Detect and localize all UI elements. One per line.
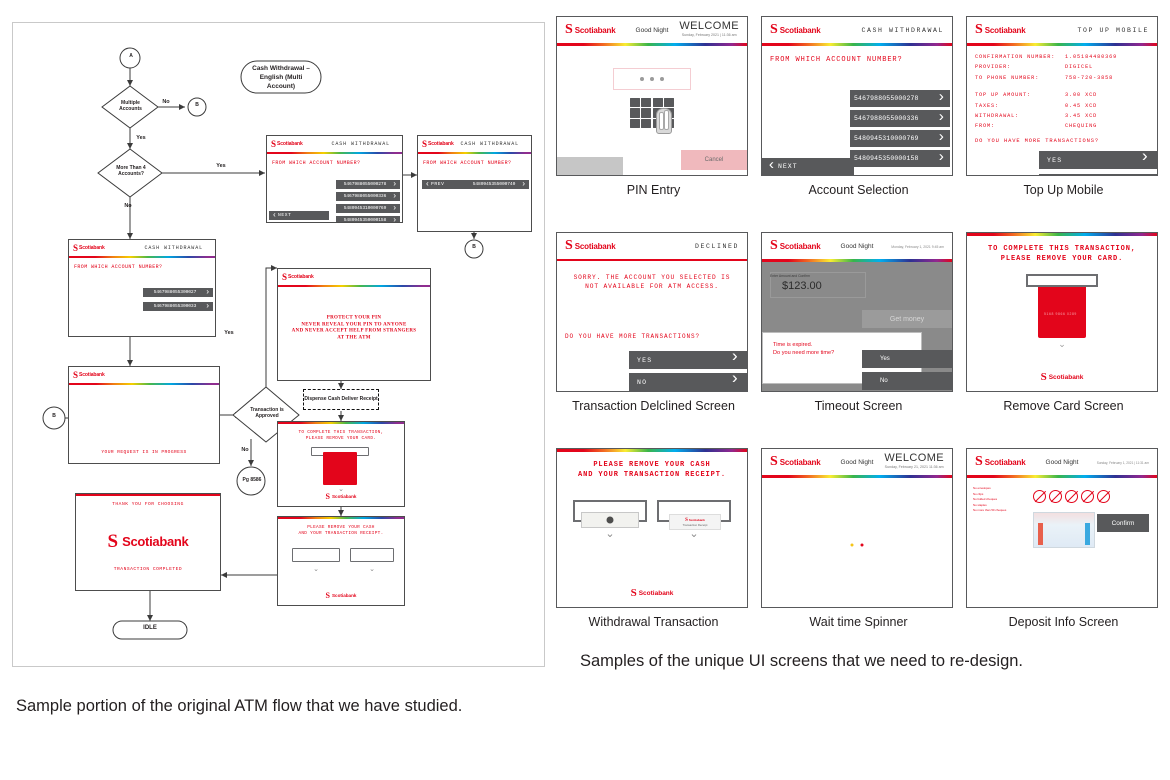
account-option[interactable]: 5467988055000278: [336, 180, 400, 189]
scotiabank-logo-icon: SScotiabank: [770, 23, 820, 37]
scotiabank-logo-icon: SScotiabank: [271, 140, 303, 149]
detail-row: TAXES:0.45 XCD: [975, 101, 1149, 111]
detail-value: 1.05184480369: [1065, 52, 1117, 62]
deposit-slot-illustration: [1033, 512, 1095, 548]
mini-header: SScotiabank CASH WITHDRAWAL: [69, 240, 215, 256]
flow-process-dispense-cash: Dispense Cash Deliver Receipt: [303, 389, 379, 410]
scotiabank-logo-icon: SScotiabank: [422, 140, 454, 149]
detail-row: WITHDRAWAL:3.45 XCD: [975, 111, 1149, 121]
screen-body: PLEASE REMOVE YOUR CASH AND YOUR TRANSAC…: [557, 452, 747, 607]
mini-body: FROM WHICH ACCOUNT NUMBER? 5467988055000…: [267, 154, 402, 222]
screen-title: TOP UP MOBILE: [1077, 27, 1149, 34]
screen-header: SScotiabank CASH WITHDRAWAL: [762, 17, 952, 43]
more-transactions-question: DO YOU HAVE MORE TRANSACTIONS?: [565, 333, 700, 340]
topup-details: CONFIRMATION NUMBER:1.05184480369 PROVID…: [975, 52, 1149, 132]
no-staple-icon: [1081, 490, 1094, 503]
mini-header: SScotiabank CASH WITHDRAWAL: [418, 136, 531, 152]
flow-page-reference: Pg 8586: [237, 478, 267, 484]
atm-flow-diagram-panel: A B B B Cash Withdrawal – English (Multi…: [12, 22, 545, 667]
account-option[interactable]: 5480945350000158: [336, 216, 400, 223]
detail-label: TAXES:: [975, 101, 1065, 111]
account-option[interactable]: 5480945310000769: [336, 204, 400, 213]
screen-timeout: SScotiabank Good Night Monday, February …: [761, 232, 953, 392]
screen-account-selection: SScotiabank CASH WITHDRAWAL FROM WHICH A…: [761, 16, 953, 176]
screen-transaction-declined: SScotiabank DECLINED SORRY. THE ACCOUNT …: [556, 232, 748, 392]
sample-withdrawal-transaction: PLEASE REMOVE YOUR CASH AND YOUR TRANSAC…: [556, 448, 751, 629]
screen-body: Cancel: [557, 46, 747, 175]
greeting-text: Good Night: [636, 27, 669, 34]
cash-icon: [581, 512, 639, 528]
mini-header: SScotiabank: [69, 367, 219, 383]
sample-caption: PIN Entry: [556, 183, 751, 197]
edge-label-yes-1: Yes: [133, 135, 149, 141]
mini-screen-title: CASH WITHDRAWAL: [331, 141, 390, 147]
sample-top-up-mobile: SScotiabank TOP UP MOBILE CONFIRMATION N…: [966, 16, 1161, 197]
greeting-text: Good Night: [1046, 459, 1079, 466]
get-money-button[interactable]: Get money: [862, 310, 952, 328]
declined-message: SORRY. THE ACCOUNT YOU SELECTED IS NOT A…: [557, 273, 747, 292]
more-transactions-question: DO YOU HAVE MORE TRANSACTIONS?: [975, 138, 1099, 144]
detail-row: TOP UP AMOUNT:3.00 XCD: [975, 90, 1149, 100]
scotiabank-logo-icon: SScotiabank: [73, 244, 105, 253]
decision-transaction-approved: Transaction is Approved: [243, 408, 291, 419]
flow-screen-thank-you: THANK YOU FOR CHOOSING S Scotiabank TRAN…: [75, 493, 221, 591]
welcome-date: Sunday, February 2021 | 11:36 am: [679, 33, 739, 37]
flow-terminator-idle: IDLE: [113, 625, 187, 632]
yes-button[interactable]: YES: [629, 351, 747, 369]
flow-title: Cash Withdrawal – English (Multi Account…: [241, 65, 321, 91]
no-clip-icon: [1049, 490, 1062, 503]
sample-transaction-declined: SScotiabank DECLINED SORRY. THE ACCOUNT …: [556, 232, 751, 413]
edge-label-yes-3: Yes: [221, 330, 237, 336]
flow-connector-b-top: B: [191, 103, 203, 109]
card-slot-icon: [1026, 274, 1098, 287]
pin-dots-display: [613, 68, 691, 90]
account-option[interactable]: 5467988055000278: [850, 90, 950, 107]
scotiabank-logo-icon: SScotiabank: [975, 455, 1025, 469]
detail-value: DIGICEL: [1065, 62, 1093, 72]
restriction-item: No more than 50 cheques: [973, 508, 1006, 514]
detail-label: FROM:: [975, 121, 1065, 131]
scotiabank-logo-icon: SScotiabank: [770, 455, 820, 469]
protect-pin-message: PROTECT YOUR PIN NEVER REVEAL YOUR PIN T…: [278, 315, 430, 342]
mini-body: YOUR REQUEST IS IN PROGRESS: [69, 385, 219, 463]
no-button[interactable]: NO: [629, 373, 747, 391]
flow-screen-in-progress: SScotiabank YOUR REQUEST IS IN PROGRESS: [68, 366, 220, 464]
detail-value: 3.00 XCD: [1065, 90, 1097, 100]
next-button[interactable]: NEXT: [762, 158, 854, 175]
amount-value: $123.00: [782, 280, 822, 292]
thank-you-bottom: TRANSACTION COMPLETED: [76, 567, 220, 572]
remove-cash-message: PLEASE REMOVE YOUR CASH AND YOUR TRANSAC…: [278, 525, 404, 537]
scotiabank-logo-icon: SScotiabank: [975, 23, 1025, 37]
yes-button[interactable]: YES: [1039, 151, 1157, 169]
screen-title: CASH WITHDRAWAL: [861, 27, 944, 34]
no-button[interactable]: NO: [1039, 174, 1157, 176]
deposit-restrictions-list: No envelopes No clips No folded cheques …: [973, 486, 1006, 514]
scotiabank-logo-icon: S Scotiabank: [76, 532, 220, 551]
sample-wait-spinner: SScotiabank Good Night WELCOME Sunday, F…: [761, 448, 956, 629]
detail-value: 758-720-3858: [1065, 73, 1113, 83]
mini-header: SScotiabank CASH WITHDRAWAL: [267, 136, 402, 152]
mini-question: FROM WHICH ACCOUNT NUMBER?: [74, 264, 162, 270]
account-option[interactable]: 5480945310000769: [850, 130, 950, 147]
mini-screen-title: CASH WITHDRAWAL: [460, 141, 519, 147]
caption-right-panel: Samples of the unique UI screens that we…: [580, 652, 1023, 671]
edge-label-yes-2: Yes: [213, 163, 229, 169]
greeting-text: Good Night: [841, 459, 874, 466]
no-button[interactable]: No: [862, 372, 952, 390]
sample-account-selection: SScotiabank CASH WITHDRAWAL FROM WHICH A…: [761, 16, 956, 197]
screen-wait-spinner: SScotiabank Good Night WELCOME Sunday, F…: [761, 448, 953, 608]
chevron-down-icon: ⌄: [657, 532, 731, 537]
flow-screen-prev-page: SScotiabank CASH WITHDRAWAL FROM WHICH A…: [417, 135, 532, 232]
welcome-date: Sunday, February 21, 2021 11:36 am: [884, 465, 944, 469]
yes-button[interactable]: Yes: [862, 350, 952, 368]
account-option[interactable]: 5467988055000336: [850, 110, 950, 127]
samples-row-1: SScotiabank Good Night WELCOME Sunday, F…: [556, 16, 1164, 216]
samples-row-2: SScotiabank DECLINED SORRY. THE ACCOUNT …: [556, 232, 1164, 432]
mini-body: PROTECT YOUR PIN NEVER REVEAL YOUR PIN T…: [278, 287, 430, 380]
screen-body: CONFIRMATION NUMBER:1.05184480369 PROVID…: [967, 46, 1157, 175]
scotiabank-logo-icon: SScotiabank: [278, 591, 404, 600]
cancel-button[interactable]: Cancel: [681, 150, 747, 170]
receipt-slot-icon: SScotiabank Transaction Receipt: [657, 500, 731, 522]
thank-you-top: THANK YOU FOR CHOOSING: [76, 502, 220, 507]
flow-screen-remove-cash: PLEASE REMOVE YOUR CASH AND YOUR TRANSAC…: [277, 516, 405, 606]
account-option[interactable]: 5480945350000158: [850, 150, 950, 167]
sample-caption: Account Selection: [761, 183, 956, 197]
screen-header: SScotiabank Good Night WELCOME Sunday, F…: [762, 449, 952, 475]
screen-header: SScotiabank Good Night Monday, February …: [762, 233, 952, 259]
header-date: Sunday, February 1, 2021 | 11:31 am: [1097, 461, 1149, 465]
screen-header: SScotiabank Good Night WELCOME Sunday, F…: [557, 17, 747, 43]
mini-body: FROM WHICH ACCOUNT NUMBER? PREV 54809453…: [418, 154, 531, 231]
detail-label: TOP UP AMOUNT:: [975, 90, 1065, 100]
account-option[interactable]: 5467988055300033: [143, 302, 213, 311]
mini-body: FROM WHICH ACCOUNT NUMBER? 5467988055300…: [69, 258, 215, 336]
sample-caption: Remove Card Screen: [966, 399, 1161, 413]
cash-slot-icon: [292, 548, 340, 562]
scotiabank-logo-icon: SScotiabank: [278, 492, 404, 501]
scotiabank-logo-icon: SScotiabank: [282, 273, 314, 282]
mini-body: TO COMPLETE THIS TRANSACTION, PLEASE REM…: [278, 424, 404, 506]
loading-spinner-icon: [851, 544, 864, 547]
prohibition-icons: [1033, 490, 1110, 503]
flow-connector-b-right: B: [468, 245, 480, 251]
screen-remove-card: TO COMPLETE THIS TRANSACTION, PLEASE REM…: [966, 232, 1158, 392]
header-date: Monday, February 1, 2021 9:45 am: [891, 245, 944, 249]
mini-header: SScotiabank: [278, 269, 430, 285]
decision-more-than-4: More Than 4 Accounts?: [105, 166, 157, 177]
sample-timeout: SScotiabank Good Night Monday, February …: [761, 232, 956, 413]
sample-caption: Deposit Info Screen: [966, 615, 1161, 629]
mini-body: THANK YOU FOR CHOOSING S Scotiabank TRAN…: [76, 496, 220, 590]
edge-label-no-2: No: [120, 203, 136, 209]
edge-label-no-3: No: [237, 447, 253, 453]
screen-body: Enter Amount and Confirm $123.00 Get mon…: [762, 262, 952, 391]
screen-top-up-mobile: SScotiabank TOP UP MOBILE CONFIRMATION N…: [966, 16, 1158, 176]
in-progress-message: YOUR REQUEST IS IN PROGRESS: [69, 450, 219, 455]
bottom-grey-bar: [557, 157, 623, 175]
sample-deposit-info: SScotiabank Good Night Sunday, February …: [966, 448, 1161, 629]
screen-title: DECLINED: [695, 243, 739, 250]
chevron-down-icon: ⌄: [967, 342, 1157, 346]
screen-pin-entry: SScotiabank Good Night WELCOME Sunday, F…: [556, 16, 748, 176]
flow-screen-two-accounts: SScotiabank CASH WITHDRAWAL FROM WHICH A…: [68, 239, 216, 337]
no-envelope-icon: [1033, 490, 1046, 503]
welcome-title: WELCOME: [884, 452, 944, 464]
hand-pointer-icon: [656, 108, 672, 134]
samples-row-3: PLEASE REMOVE YOUR CASH AND YOUR TRANSAC…: [556, 448, 1164, 648]
detail-label: CONFIRMATION NUMBER:: [975, 52, 1065, 62]
detail-row: TO PHONE NUMBER:758-720-3858: [975, 73, 1149, 83]
decision-multiple-accounts: Multiple Accounts: [108, 101, 153, 112]
sample-caption: Transaction Delclined Screen: [556, 399, 751, 413]
scotiabank-logo-icon: SScotiabank: [565, 239, 615, 253]
screen-body: FROM WHICH ACCOUNT NUMBER? 5467988055000…: [762, 46, 952, 175]
no-more-than-50-icon: [1097, 490, 1110, 503]
card-number: 5168 9866 0289: [1044, 312, 1077, 316]
scotiabank-logo-icon: S Scotiabank: [967, 371, 1157, 383]
scotiabank-logo-icon: S Scotiabank: [557, 587, 747, 599]
chevron-down-icon: ⌄: [350, 567, 394, 572]
screen-header: SScotiabank TOP UP MOBILE: [967, 17, 1157, 43]
detail-label: WITHDRAWAL:: [975, 111, 1065, 121]
confirm-button[interactable]: Confirm: [1097, 514, 1149, 532]
ui-screen-samples: SScotiabank Good Night WELCOME Sunday, F…: [556, 16, 1164, 636]
greeting-text: Good Night: [841, 243, 874, 250]
sample-caption: Top Up Mobile: [966, 183, 1161, 197]
mini-screen-title: CASH WITHDRAWAL: [144, 245, 203, 251]
scotiabank-logo-icon: SScotiabank: [770, 239, 820, 253]
flow-connector-b-left: B: [48, 414, 60, 420]
screen-withdrawal-transaction: PLEASE REMOVE YOUR CASH AND YOUR TRANSAC…: [556, 448, 748, 608]
no-folded-cheque-icon: [1065, 490, 1078, 503]
scotiabank-logo-icon: SScotiabank: [73, 371, 105, 380]
receipt-slot-icon: [350, 548, 394, 562]
account-option[interactable]: 5467988055000336: [336, 192, 400, 201]
screen-body: SORRY. THE ACCOUNT YOU SELECTED IS NOT A…: [557, 261, 747, 390]
next-button[interactable]: NEXT: [269, 211, 329, 220]
remove-card-message: TO COMPLETE THIS TRANSACTION, PLEASE REM…: [967, 244, 1157, 264]
screen-header: SScotiabank Good Night Sunday, February …: [967, 449, 1157, 475]
detail-row: FROM:CHEQUING: [975, 121, 1149, 131]
screen-body: TO COMPLETE THIS TRANSACTION, PLEASE REM…: [967, 236, 1157, 391]
account-option[interactable]: 5467988055300027: [143, 288, 213, 297]
amount-label: Enter Amount and Confirm: [770, 274, 810, 278]
detail-row: PROVIDER:DIGICEL: [975, 62, 1149, 72]
cash-slot-icon: [573, 500, 647, 522]
chevron-down-icon: ⌄: [573, 532, 647, 537]
mini-question: FROM WHICH ACCOUNT NUMBER?: [423, 160, 511, 166]
detail-label: PROVIDER:: [975, 62, 1065, 72]
receipt-label: Transaction Receipt: [683, 523, 708, 527]
flow-screen-remove-card: TO COMPLETE THIS TRANSACTION, PLEASE REM…: [277, 421, 405, 507]
bank-card-icon: [323, 452, 357, 485]
remove-cash-message: PLEASE REMOVE YOUR CASH AND YOUR TRANSAC…: [557, 460, 747, 480]
flow-screen-multi-account: SScotiabank CASH WITHDRAWAL FROM WHICH A…: [266, 135, 403, 223]
account-option[interactable]: 5480945355000740: [465, 180, 529, 189]
mini-body: PLEASE REMOVE YOUR CASH AND YOUR TRANSAC…: [278, 519, 404, 605]
flow-screen-protect-pin: SScotiabank PROTECT YOUR PIN NEVER REVEA…: [277, 268, 431, 381]
welcome-block: WELCOME Sunday, February 2021 | 11:36 am: [679, 20, 739, 37]
sample-caption: Wait time Spinner: [761, 615, 956, 629]
flow-connector-a: A: [125, 54, 137, 60]
caption-left-panel: Sample portion of the original ATM flow …: [16, 697, 462, 716]
detail-value: 3.45 XCD: [1065, 111, 1097, 121]
sample-remove-card: TO COMPLETE THIS TRANSACTION, PLEASE REM…: [966, 232, 1161, 413]
chevron-down-icon: ⌄: [292, 567, 340, 572]
remove-card-message: TO COMPLETE THIS TRANSACTION, PLEASE REM…: [278, 430, 404, 442]
detail-row: CONFIRMATION NUMBER:1.05184480369: [975, 52, 1149, 62]
welcome-block: WELCOME Sunday, February 21, 2021 11:36 …: [884, 452, 944, 469]
scotiabank-logo-icon: SScotiabank: [565, 23, 615, 37]
sample-pin-entry: SScotiabank Good Night WELCOME Sunday, F…: [556, 16, 751, 197]
detail-label: TO PHONE NUMBER:: [975, 73, 1065, 83]
sample-caption: Timeout Screen: [761, 399, 956, 413]
screen-deposit-info: SScotiabank Good Night Sunday, February …: [966, 448, 1158, 608]
screen-body: No envelopes No clips No folded cheques …: [967, 478, 1157, 607]
screen-body: [762, 478, 952, 607]
edge-label-no-1: No: [159, 99, 173, 105]
mini-question: FROM WHICH ACCOUNT NUMBER?: [272, 160, 360, 166]
screen-header: SScotiabank DECLINED: [557, 233, 747, 259]
detail-value: CHEQUING: [1065, 121, 1097, 131]
welcome-title: WELCOME: [679, 20, 739, 32]
sample-caption: Withdrawal Transaction: [556, 615, 751, 629]
detail-value: 0.45 XCD: [1065, 101, 1097, 111]
account-question: FROM WHICH ACCOUNT NUMBER?: [770, 56, 903, 64]
bank-card-icon: 5168 9866 0289: [1038, 282, 1086, 338]
